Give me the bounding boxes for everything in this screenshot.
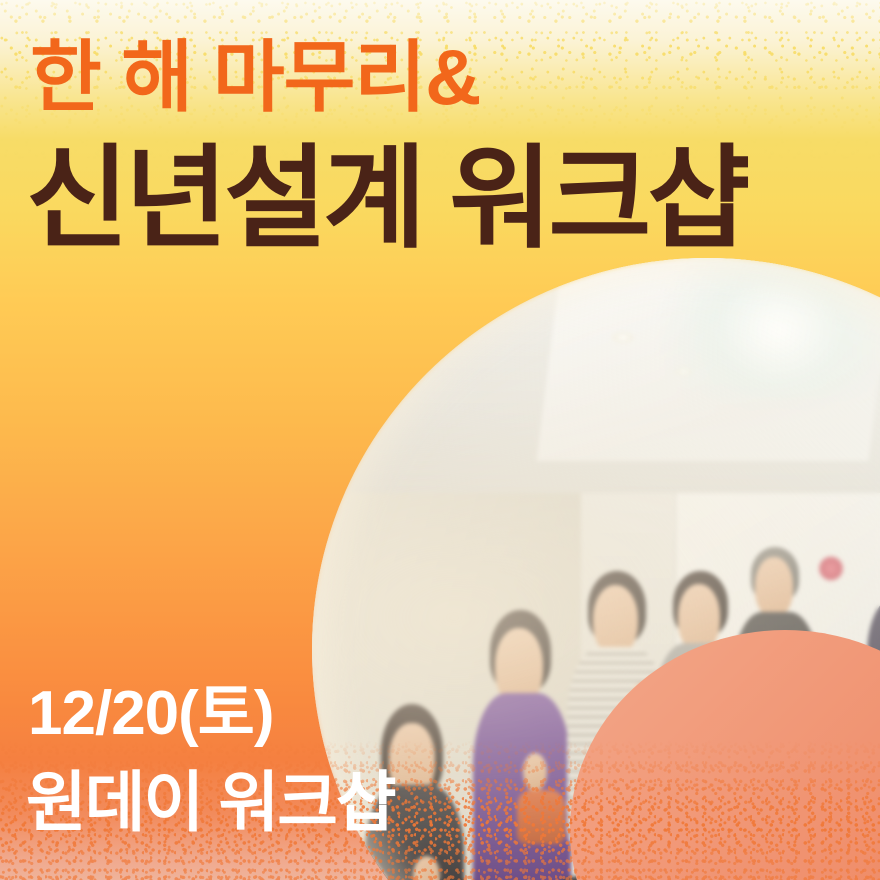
- orange-bag: [517, 790, 564, 845]
- poster-canvas: 한 해 마무리& 신년설계 워크샵 12/20(토) 원데이 워크샵: [0, 0, 880, 880]
- window-glare: [660, 258, 880, 399]
- event-date: 12/20(토): [28, 683, 273, 745]
- flower-decoration: [818, 555, 845, 582]
- headline-line-2: 신년설계 워크샵: [26, 143, 746, 255]
- event-subtitle: 원데이 워크샵: [26, 769, 395, 835]
- headline-line-1: 한 해 마무리&: [30, 38, 480, 116]
